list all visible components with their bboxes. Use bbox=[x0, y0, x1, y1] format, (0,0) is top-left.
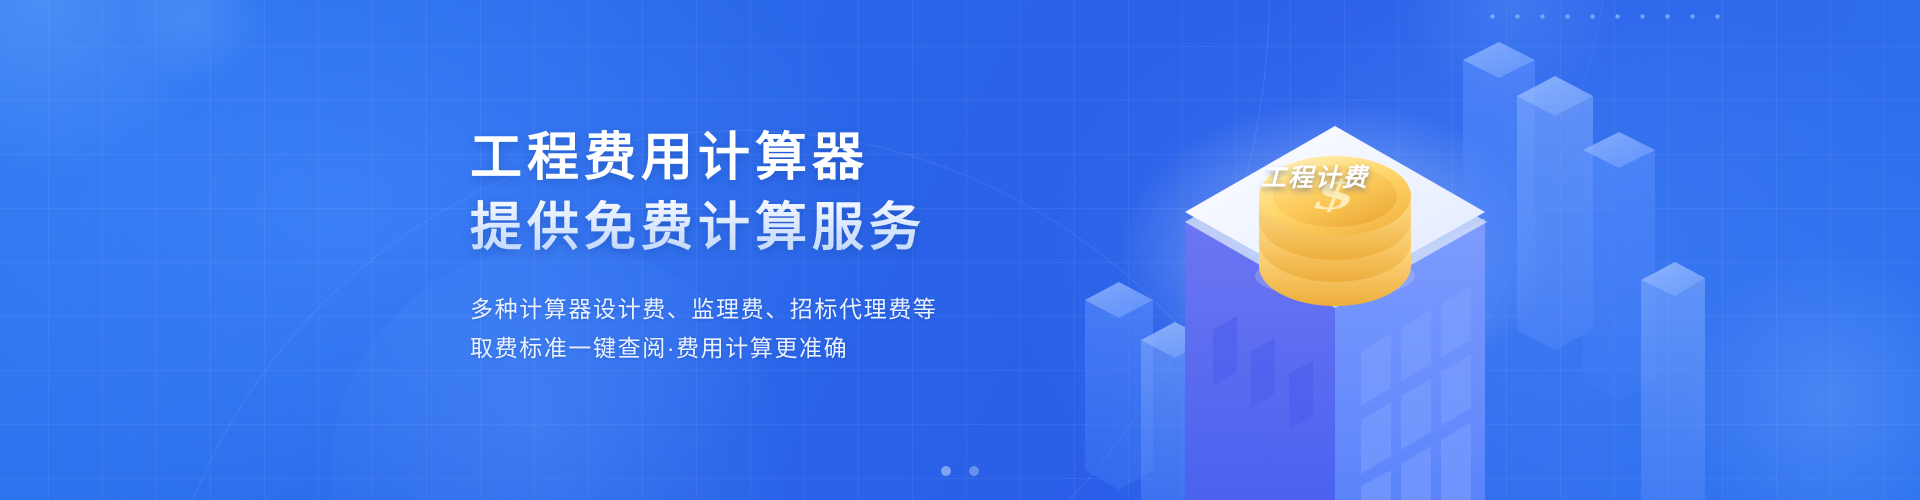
headline-line-1: 工程费用计算器 bbox=[470, 129, 869, 187]
banner-headline: 工程费用计算器 提供免费计算服务 bbox=[470, 128, 1090, 260]
background-bar-right-edge bbox=[1641, 262, 1705, 500]
banner-illustration: $ 工程计费 bbox=[1085, 0, 1705, 500]
carousel-dots[interactable] bbox=[0, 466, 1920, 476]
background-bar-right-mid bbox=[1517, 76, 1593, 350]
subtitle-line-1: 多种计算器设计费、监理费、招标代理费等 bbox=[470, 296, 937, 322]
illustration-badge-label: 工程计费 bbox=[1261, 158, 1369, 194]
banner-subtitle: 多种计算器设计费、监理费、招标代理费等 取费标准一键查阅·费用计算更准确 bbox=[470, 290, 1090, 369]
isometric-city-illustration: $ bbox=[1085, 0, 1705, 500]
carousel-dot-1[interactable] bbox=[941, 466, 951, 476]
hero-banner: 工程费用计算器 提供免费计算服务 多种计算器设计费、监理费、招标代理费等 取费标… bbox=[0, 0, 1920, 500]
carousel-dot-2[interactable] bbox=[969, 466, 979, 476]
subtitle-line-2: 取费标准一键查阅·费用计算更准确 bbox=[470, 329, 1090, 369]
banner-copy-block: 工程费用计算器 提供免费计算服务 多种计算器设计费、监理费、招标代理费等 取费标… bbox=[470, 128, 1090, 369]
headline-line-2: 提供免费计算服务 bbox=[470, 198, 1090, 259]
